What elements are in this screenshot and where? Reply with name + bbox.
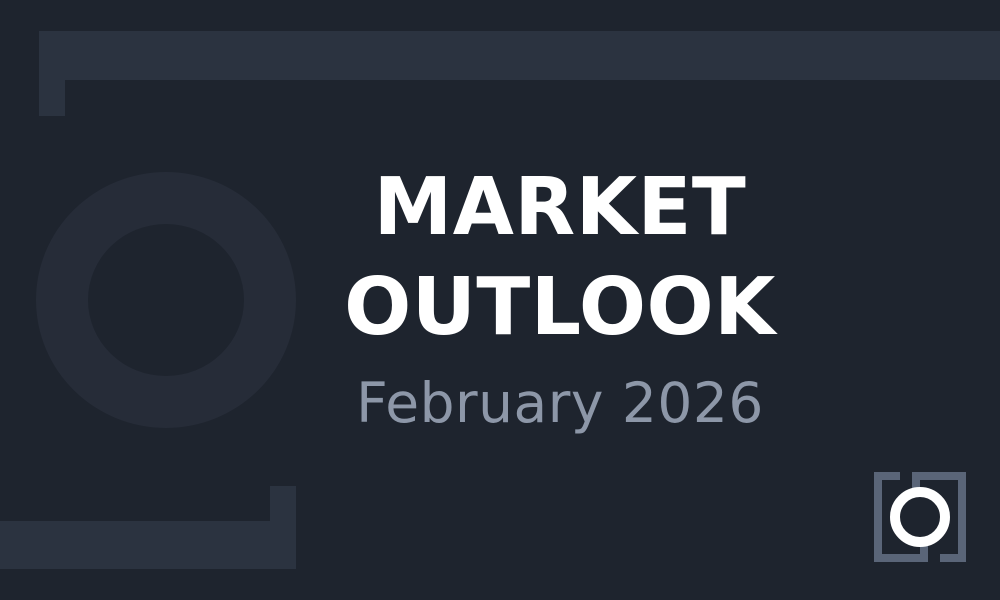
page-title-line-2: OUTLOOK bbox=[344, 269, 776, 346]
camera-aperture-icon bbox=[866, 464, 974, 570]
camera-aperture-logo bbox=[866, 464, 974, 570]
corner-bracket-bottom-horizontal bbox=[0, 521, 296, 569]
corner-bracket-bottom-vertical bbox=[270, 486, 296, 569]
corner-bracket-top-vertical bbox=[39, 31, 65, 116]
circle-outline-decoration bbox=[36, 172, 296, 428]
page-subtitle-date: February 2026 bbox=[356, 376, 764, 431]
market-outlook-poster: MARKET OUTLOOK February 2026 bbox=[0, 0, 1000, 600]
lens-ring-icon bbox=[895, 492, 945, 542]
title-block: MARKET OUTLOOK February 2026 bbox=[310, 0, 810, 600]
page-title-line-1: MARKET bbox=[374, 169, 747, 246]
